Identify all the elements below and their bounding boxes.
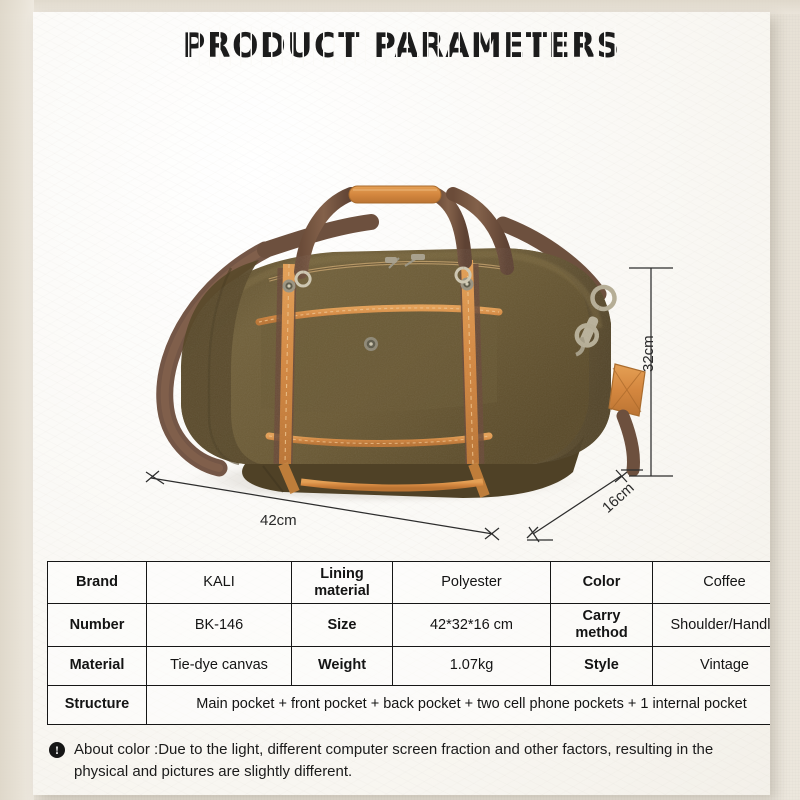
- spec-value-style: Vintage: [653, 646, 771, 685]
- spec-value-material: Tie-dye canvas: [147, 646, 292, 685]
- exclamation-icon: !: [49, 742, 65, 758]
- spec-key-carry-method-line2: method: [575, 625, 627, 641]
- table-row: Material Tie-dye canvas Weight 1.07kg St…: [48, 646, 771, 685]
- spec-key-lining-material-line1: Lining: [320, 566, 364, 582]
- spec-value-size: 42*32*16 cm: [393, 604, 551, 646]
- table-row: Brand KALI Lining material Polyester Col…: [48, 562, 771, 604]
- spec-key-number: Number: [48, 604, 147, 646]
- color-disclaimer-text: About color :Due to the light, different…: [74, 739, 755, 783]
- table-row: Structure Main pocket + front pocket + b…: [48, 685, 771, 724]
- spec-value-lining-material: Polyester: [393, 562, 551, 604]
- spec-key-size: Size: [292, 604, 393, 646]
- product-photo: 42cm 32cm 16cm: [33, 72, 770, 557]
- spec-key-lining-material: Lining material: [292, 562, 393, 604]
- spec-key-carry-method-line1: Carry: [583, 608, 621, 624]
- spec-value-brand: KALI: [147, 562, 292, 604]
- spec-key-weight: Weight: [292, 646, 393, 685]
- spec-value-weight: 1.07kg: [393, 646, 551, 685]
- spec-key-structure: Structure: [48, 685, 147, 724]
- table-row: Number BK-146 Size 42*32*16 cm Carry met…: [48, 604, 771, 646]
- spec-key-brand: Brand: [48, 562, 147, 604]
- dimension-label-height: 32cm: [640, 335, 657, 372]
- spec-key-style: Style: [551, 646, 653, 685]
- spec-key-material: Material: [48, 646, 147, 685]
- spec-value-color: Coffee: [653, 562, 771, 604]
- spec-key-lining-material-line2: material: [314, 583, 370, 599]
- spec-value-carry-method: Shoulder/Handle: [653, 604, 771, 646]
- dimension-label-width: 42cm: [260, 512, 297, 529]
- spec-value-structure: Main pocket + front pocket + back pocket…: [147, 685, 771, 724]
- specification-table: Brand KALI Lining material Polyester Col…: [47, 561, 770, 725]
- background-left-edge: [0, 0, 34, 800]
- color-disclaimer-note: ! About color :Due to the light, differe…: [49, 739, 755, 783]
- spec-key-carry-method: Carry method: [551, 604, 653, 646]
- product-photo-svg: [33, 72, 770, 557]
- page-title: PRODUCT PARAMETERS: [33, 28, 770, 64]
- page-title-text: PRODUCT PARAMETERS: [183, 27, 621, 66]
- spec-value-number: BK-146: [147, 604, 292, 646]
- spec-key-color: Color: [551, 562, 653, 604]
- content-card: PRODUCT PARAMETERS: [33, 12, 770, 795]
